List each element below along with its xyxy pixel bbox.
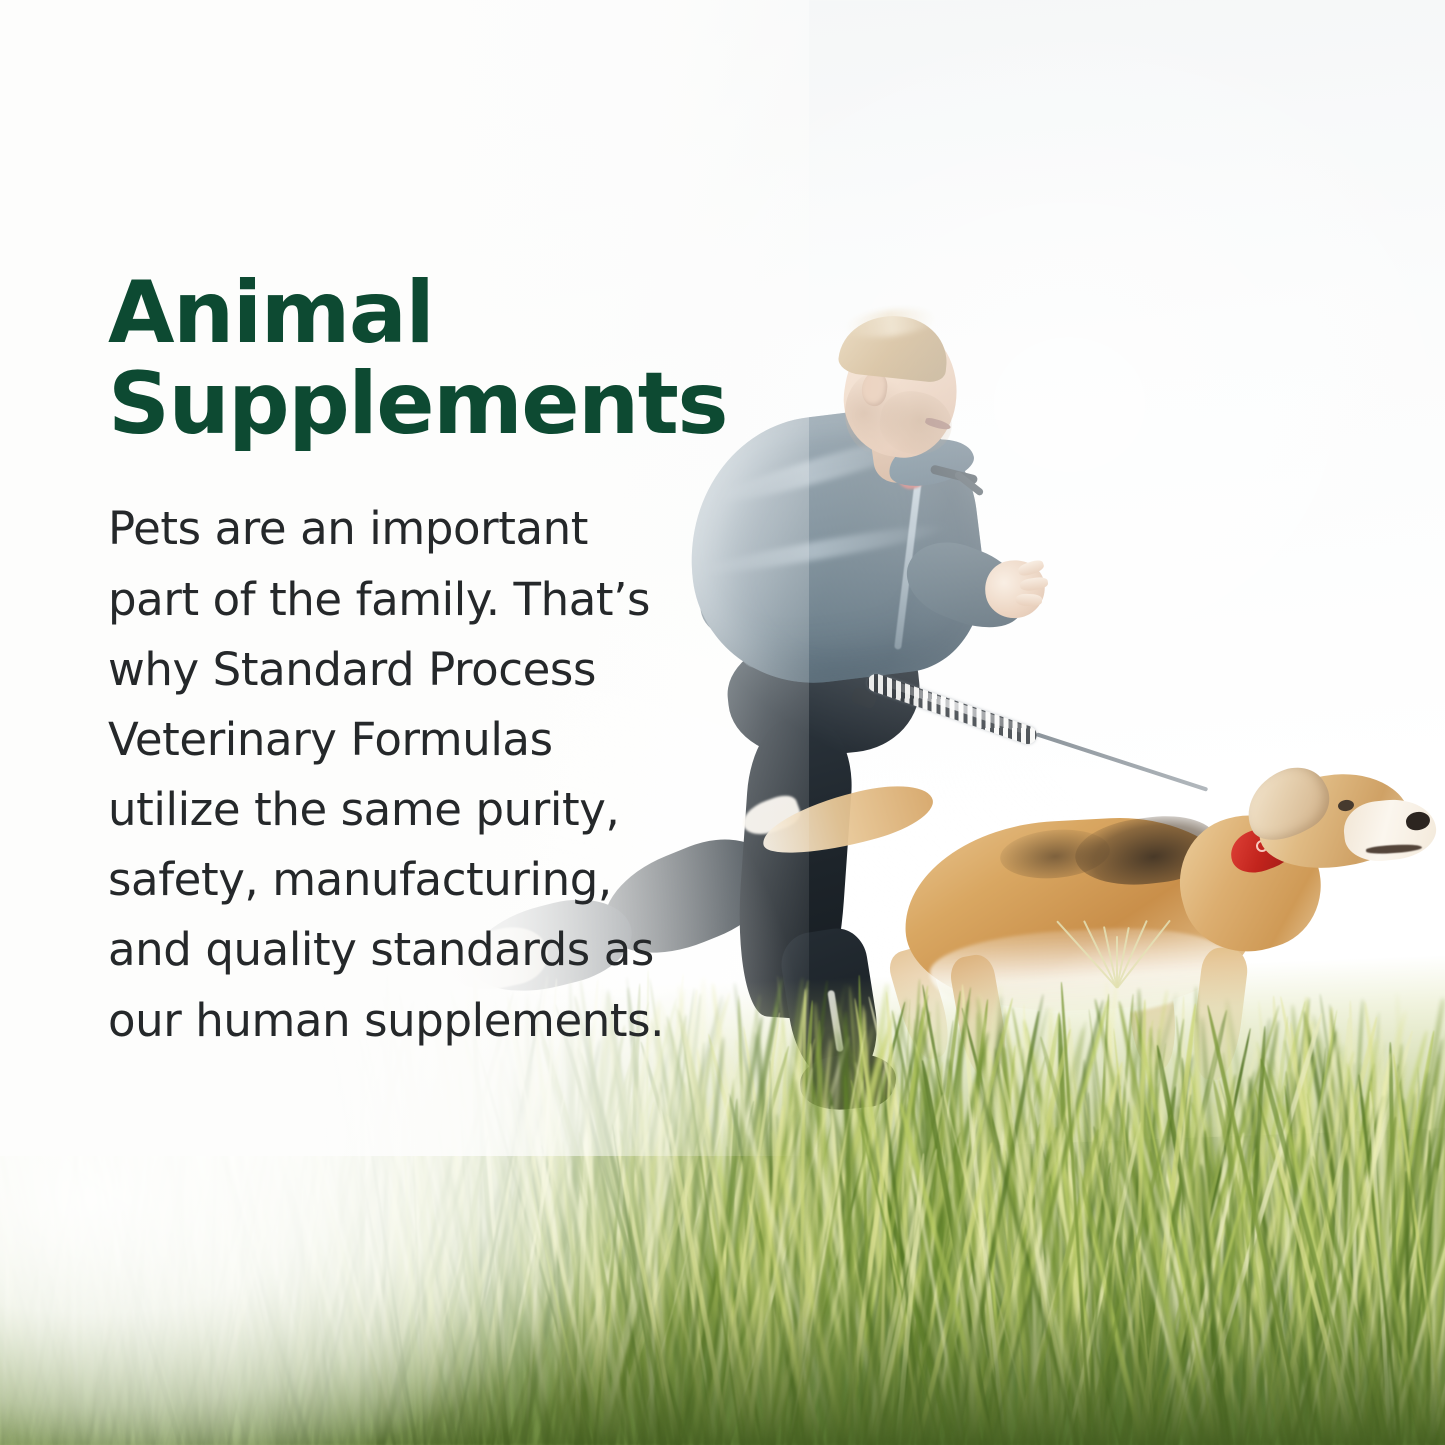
copy-block: Animal Supplements Pets are an important… <box>108 268 688 1056</box>
page-title: Animal Supplements <box>108 268 688 450</box>
runner-finger-3 <box>1016 594 1042 607</box>
promo-banner: Animal Supplements Pets are an important… <box>0 0 1445 1445</box>
body-paragraph: Pets are an important part of the family… <box>108 494 688 1056</box>
